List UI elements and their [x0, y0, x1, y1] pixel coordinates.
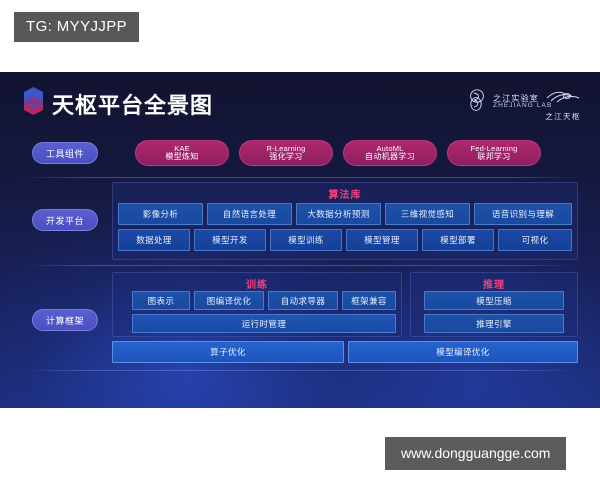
tile-bigdata-prediction[interactable]: 大数据分析预测: [296, 203, 381, 225]
tile-graph-compile-optimization[interactable]: 图编译优化: [194, 291, 264, 310]
tile-runtime-management[interactable]: 运行时管理: [132, 314, 396, 333]
tg-watermark-badge: TG: MYYJJPP: [14, 12, 139, 42]
inference-group-title: 推理: [410, 276, 578, 291]
zhejiang-lab-brand: 之江实验室 ZHEJIANG LAB: [466, 88, 552, 117]
tianshu-name-cn: 之江天枢: [545, 111, 581, 122]
tile-data-processing[interactable]: 数据处理: [118, 229, 190, 251]
tile-speech-recognition[interactable]: 语音识别与理解: [474, 203, 572, 225]
tile-inference-engine[interactable]: 推理引擎: [424, 314, 564, 333]
tool-pill-fedlearning[interactable]: Fed-Learning 联邦学习: [447, 140, 541, 166]
tool-pill-rlearning[interactable]: R-Learning 强化学习: [239, 140, 333, 166]
tile-operator-optimization[interactable]: 算子优化: [112, 341, 344, 363]
category-pill-compute[interactable]: 计算框架: [32, 309, 98, 331]
tile-nlp[interactable]: 自然语言处理: [207, 203, 292, 225]
tool-pill-automl-cn: 自动机器学习: [365, 153, 415, 162]
tool-pill-rlearning-cn: 强化学习: [269, 153, 302, 162]
category-pill-tools[interactable]: 工具组件: [32, 142, 98, 164]
tool-pill-kae-cn: 模型炼知: [165, 153, 198, 162]
tile-framework-compatibility[interactable]: 框架兼容: [342, 291, 396, 310]
tool-pill-fedlearning-cn: 联邦学习: [477, 153, 510, 162]
tile-graph-representation[interactable]: 图表示: [132, 291, 190, 310]
tool-pill-automl[interactable]: AutoML 自动机器学习: [343, 140, 437, 166]
zhejiang-lab-name-en: ZHEJIANG LAB: [493, 103, 552, 110]
tile-model-training[interactable]: 模型训练: [270, 229, 342, 251]
tile-model-deployment[interactable]: 模型部署: [422, 229, 494, 251]
tianshu-brand: 之江天枢: [545, 89, 581, 122]
tile-model-management[interactable]: 模型管理: [346, 229, 418, 251]
divider-platform-compute: [22, 265, 578, 266]
tile-image-analysis[interactable]: 影像分析: [118, 203, 203, 225]
category-pill-platform[interactable]: 开发平台: [32, 209, 98, 231]
algorithm-library-title: 算法库: [112, 186, 578, 201]
hexagon-logo-icon: [24, 87, 43, 115]
zhijiang-tianshu-logo-icon: [545, 89, 581, 109]
page-title: 天枢平台全景图: [52, 88, 213, 120]
tile-model-development[interactable]: 模型开发: [194, 229, 266, 251]
training-group-title: 训练: [112, 276, 402, 291]
platform-overview-panel: 天枢平台全景图 之江实验室 ZHEJIANG LAB: [0, 72, 600, 408]
tile-3d-vision[interactable]: 三维视觉感知: [385, 203, 470, 225]
tile-model-compression[interactable]: 模型压缩: [424, 291, 564, 310]
divider-tools-platform: [22, 177, 578, 178]
tile-visualization[interactable]: 可视化: [498, 229, 572, 251]
site-watermark-badge: www.dongguangge.com: [385, 437, 566, 470]
tile-model-compile-optimization[interactable]: 模型编译优化: [348, 341, 578, 363]
screenshot-root: TG: MYYJJPP 天枢平台全景图: [0, 0, 600, 480]
tool-pill-kae[interactable]: KAE 模型炼知: [135, 140, 229, 166]
divider-compute-bottom: [22, 370, 578, 371]
zhejiang-lab-logo-icon: [466, 88, 488, 117]
tile-auto-differentiation[interactable]: 自动求导器: [268, 291, 338, 310]
